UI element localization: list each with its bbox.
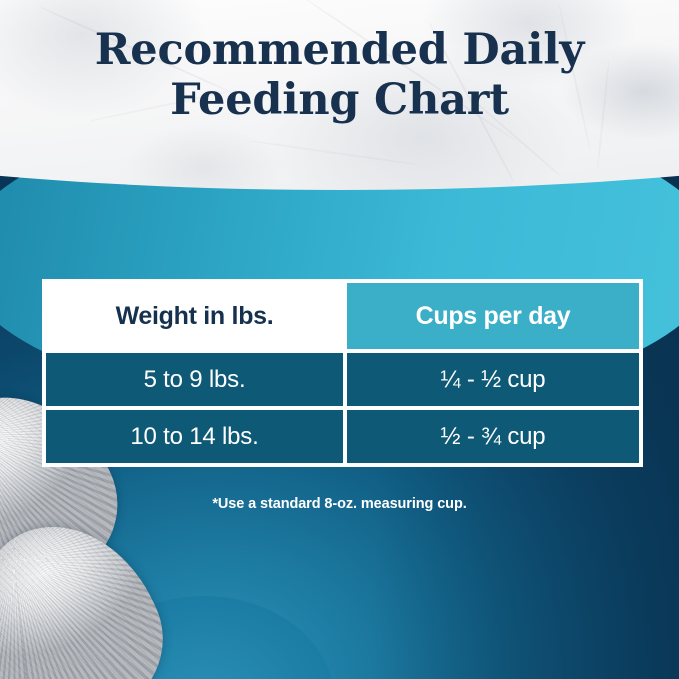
table-header-row: Weight in lbs. Cups per day	[44, 281, 641, 351]
feeding-table: Weight in lbs. Cups per day 5 to 9 lbs. …	[44, 281, 641, 465]
marble-panel: Recommended Daily Feeding Chart	[0, 0, 679, 190]
table-row: 10 to 14 lbs. ½ - ¾ cup	[44, 408, 641, 465]
column-header-weight: Weight in lbs.	[44, 281, 345, 351]
feeding-table-head: Weight in lbs. Cups per day	[44, 281, 641, 351]
footnote-text: *Use a standard 8-oz. measuring cup.	[0, 496, 679, 512]
page-title-line-1: Recommended Daily	[95, 25, 584, 75]
cell-cups: ½ - ¾ cup	[345, 408, 641, 465]
page-title-line-2: Feeding Chart	[0, 76, 679, 126]
column-header-cups: Cups per day	[345, 281, 641, 351]
table-row: 5 to 9 lbs. ¼ - ½ cup	[44, 351, 641, 408]
header-banner: Recommended Daily Feeding Chart	[0, 0, 679, 190]
feeding-chart-poster: Recommended Daily Feeding Chart Weight i…	[0, 0, 679, 679]
cell-weight: 5 to 9 lbs.	[44, 351, 345, 408]
cell-cups: ¼ - ½ cup	[345, 351, 641, 408]
page-title: Recommended Daily Feeding Chart	[0, 26, 679, 126]
cell-weight: 10 to 14 lbs.	[44, 408, 345, 465]
marble-vein	[250, 140, 419, 165]
feeding-table-body: 5 to 9 lbs. ¼ - ½ cup 10 to 14 lbs. ½ - …	[44, 351, 641, 465]
